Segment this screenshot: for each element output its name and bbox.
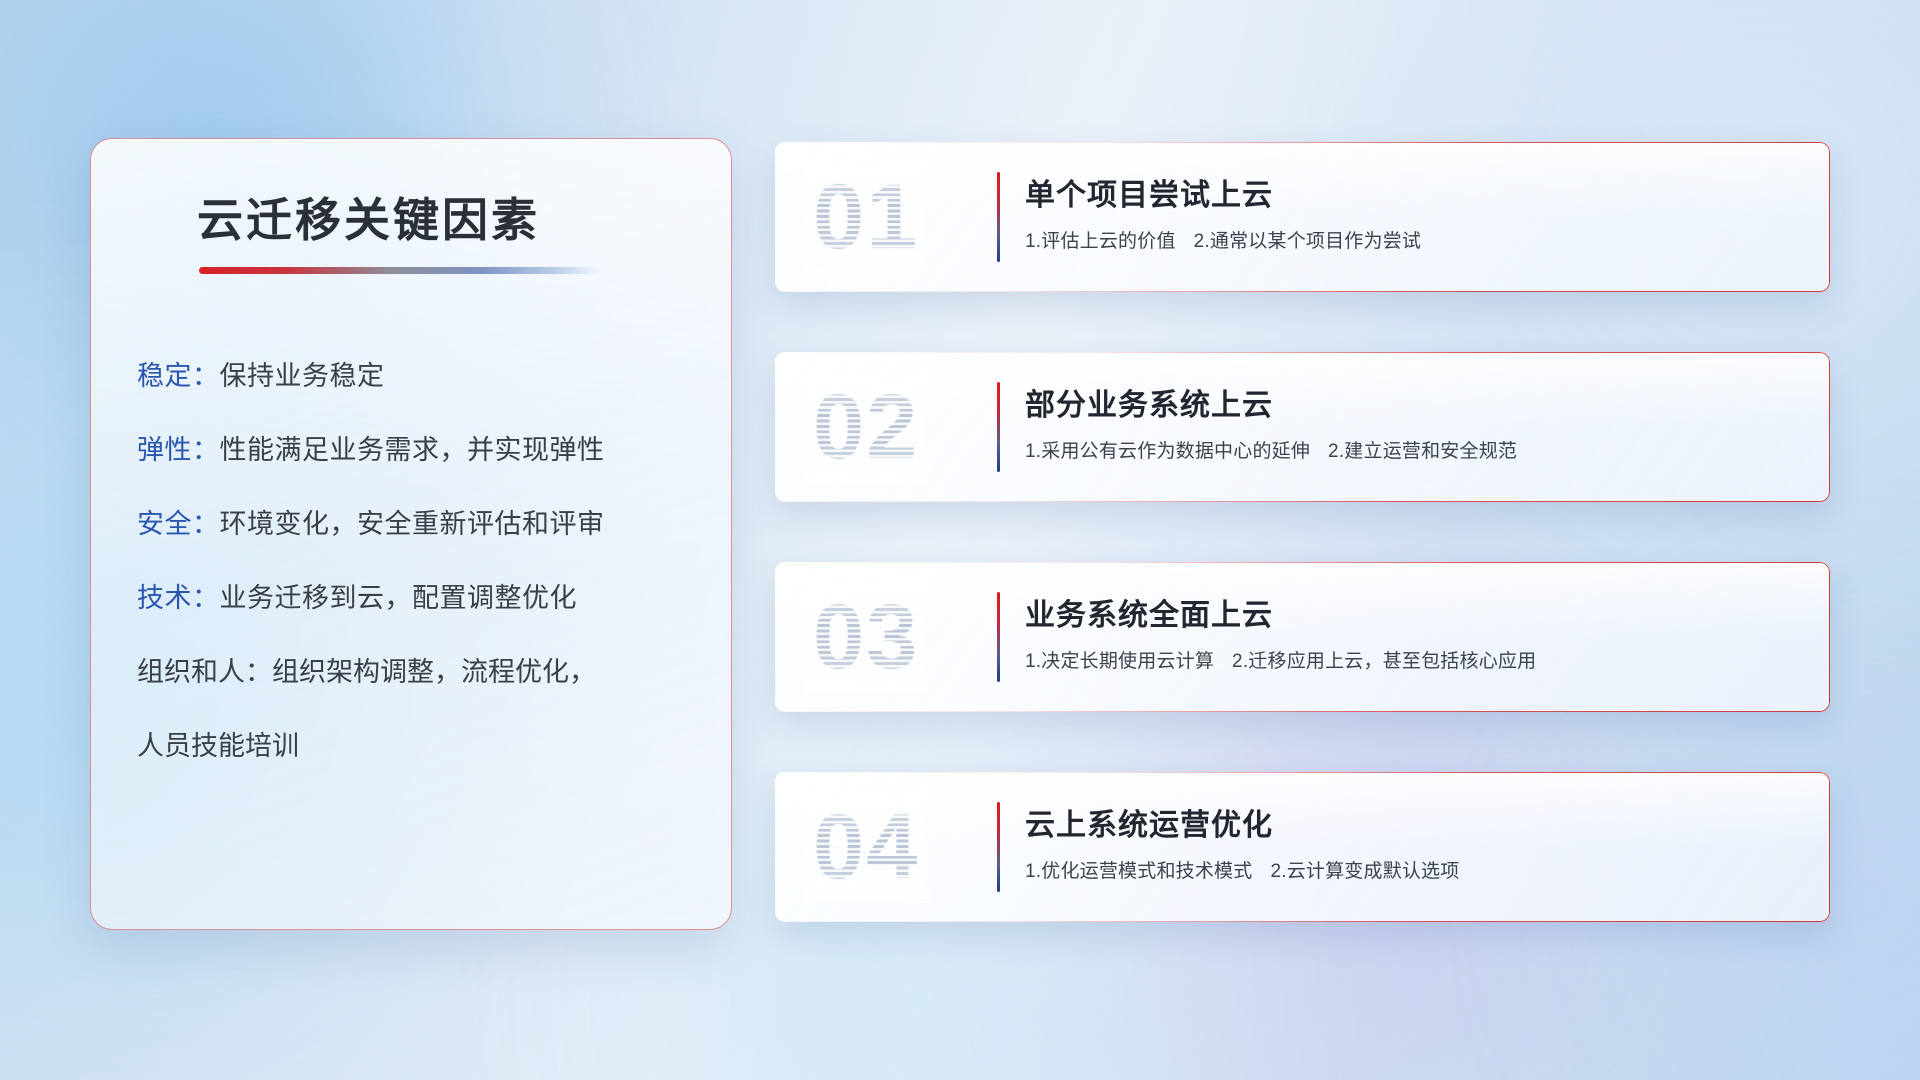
card-border: [775, 562, 1830, 712]
key-factors-list: 稳定：保持业务稳定 弹性：性能满足业务需求，并实现弹性 安全：环境变化，安全重新…: [137, 339, 701, 783]
step-number-text: 03: [813, 586, 919, 688]
step-number-text: 02: [813, 376, 919, 478]
card-gloss: [775, 772, 1830, 847]
card-gloss: [775, 142, 1830, 217]
factor-label: 组织和人：: [137, 657, 272, 687]
step-number-01: 01: [813, 171, 919, 263]
step-description: 1.评估上云的价值2.通常以某个项目作为尝试: [1025, 226, 1421, 253]
step-title: 单个项目尝试上云: [1025, 170, 1273, 214]
list-item: 安全：环境变化，安全重新评估和评审: [137, 487, 701, 561]
step-desc-part-2: 2.云计算变成默认选项: [1270, 861, 1459, 882]
factor-label: 稳定：: [137, 361, 220, 391]
list-item: 稳定：保持业务稳定: [137, 339, 701, 413]
step-title: 业务系统全面上云: [1025, 590, 1273, 634]
card-gloss: [775, 352, 1830, 427]
card-gloss: [775, 562, 1830, 637]
step-card-02[interactable]: 02 部分业务系统上云 1.采用公有云作为数据中心的延伸2.建立运营和安全规范: [775, 352, 1830, 502]
step-desc-part-2: 2.通常以某个项目作为尝试: [1194, 231, 1421, 252]
factor-text: 业务迁移到云，配置调整优化: [220, 583, 578, 613]
card-border: [775, 772, 1830, 922]
step-number-text: 04: [813, 796, 919, 898]
step-number-text: 01: [813, 166, 919, 268]
factor-label: 弹性：: [137, 435, 220, 465]
step-title: 云上系统运营优化: [1025, 800, 1273, 844]
step-desc-part-1: 1.评估上云的价值: [1025, 231, 1176, 252]
step-card-03[interactable]: 03 业务系统全面上云 1.决定长期使用云计算2.迁移应用上云，甚至包括核心应用: [775, 562, 1830, 712]
list-item: 组织和人：组织架构调整，流程优化，: [137, 635, 701, 709]
factor-text: 人员技能培训: [137, 731, 299, 761]
step-description: 1.优化运营模式和技术模式2.云计算变成默认选项: [1025, 856, 1460, 883]
step-desc-part-1: 1.决定长期使用云计算: [1025, 651, 1214, 672]
step-accent-bar: [997, 172, 1000, 262]
title-underline-rule: [199, 267, 601, 274]
step-desc-part-1: 1.优化运营模式和技术模式: [1025, 861, 1252, 882]
card-border: [775, 352, 1830, 502]
list-item-continuation: 人员技能培训: [137, 709, 701, 783]
factor-text: 组织架构调整，流程优化，: [272, 657, 596, 687]
step-desc-part-2: 2.迁移应用上云，甚至包括核心应用: [1232, 651, 1536, 672]
key-factors-card: 云迁移关键因素 稳定：保持业务稳定 弹性：性能满足业务需求，并实现弹性 安全：环…: [90, 138, 732, 930]
step-accent-bar: [997, 802, 1000, 892]
list-item: 弹性：性能满足业务需求，并实现弹性: [137, 413, 701, 487]
step-desc-part-1: 1.采用公有云作为数据中心的延伸: [1025, 441, 1310, 462]
factor-text: 性能满足业务需求，并实现弹性: [220, 435, 605, 465]
factor-label: 技术：: [137, 583, 220, 613]
step-card-01[interactable]: 01 单个项目尝试上云 1.评估上云的价值2.通常以某个项目作为尝试: [775, 142, 1830, 292]
page-title: 云迁移关键因素: [197, 184, 540, 250]
card-border: [775, 142, 1830, 292]
step-number-02: 02: [813, 381, 919, 473]
step-accent-bar: [997, 382, 1000, 472]
step-card-04[interactable]: 04 云上系统运营优化 1.优化运营模式和技术模式2.云计算变成默认选项: [775, 772, 1830, 922]
step-number-04: 04: [813, 801, 919, 893]
step-description: 1.决定长期使用云计算2.迁移应用上云，甚至包括核心应用: [1025, 646, 1536, 673]
factor-label: 安全：: [137, 509, 220, 539]
step-desc-part-2: 2.建立运营和安全规范: [1328, 441, 1517, 462]
factor-text: 环境变化，安全重新评估和评审: [220, 509, 605, 539]
list-item: 技术：业务迁移到云，配置调整优化: [137, 561, 701, 635]
step-title: 部分业务系统上云: [1025, 380, 1273, 424]
step-number-03: 03: [813, 591, 919, 683]
factor-text: 保持业务稳定: [220, 361, 385, 391]
step-description: 1.采用公有云作为数据中心的延伸2.建立运营和安全规范: [1025, 436, 1517, 463]
step-accent-bar: [997, 592, 1000, 682]
